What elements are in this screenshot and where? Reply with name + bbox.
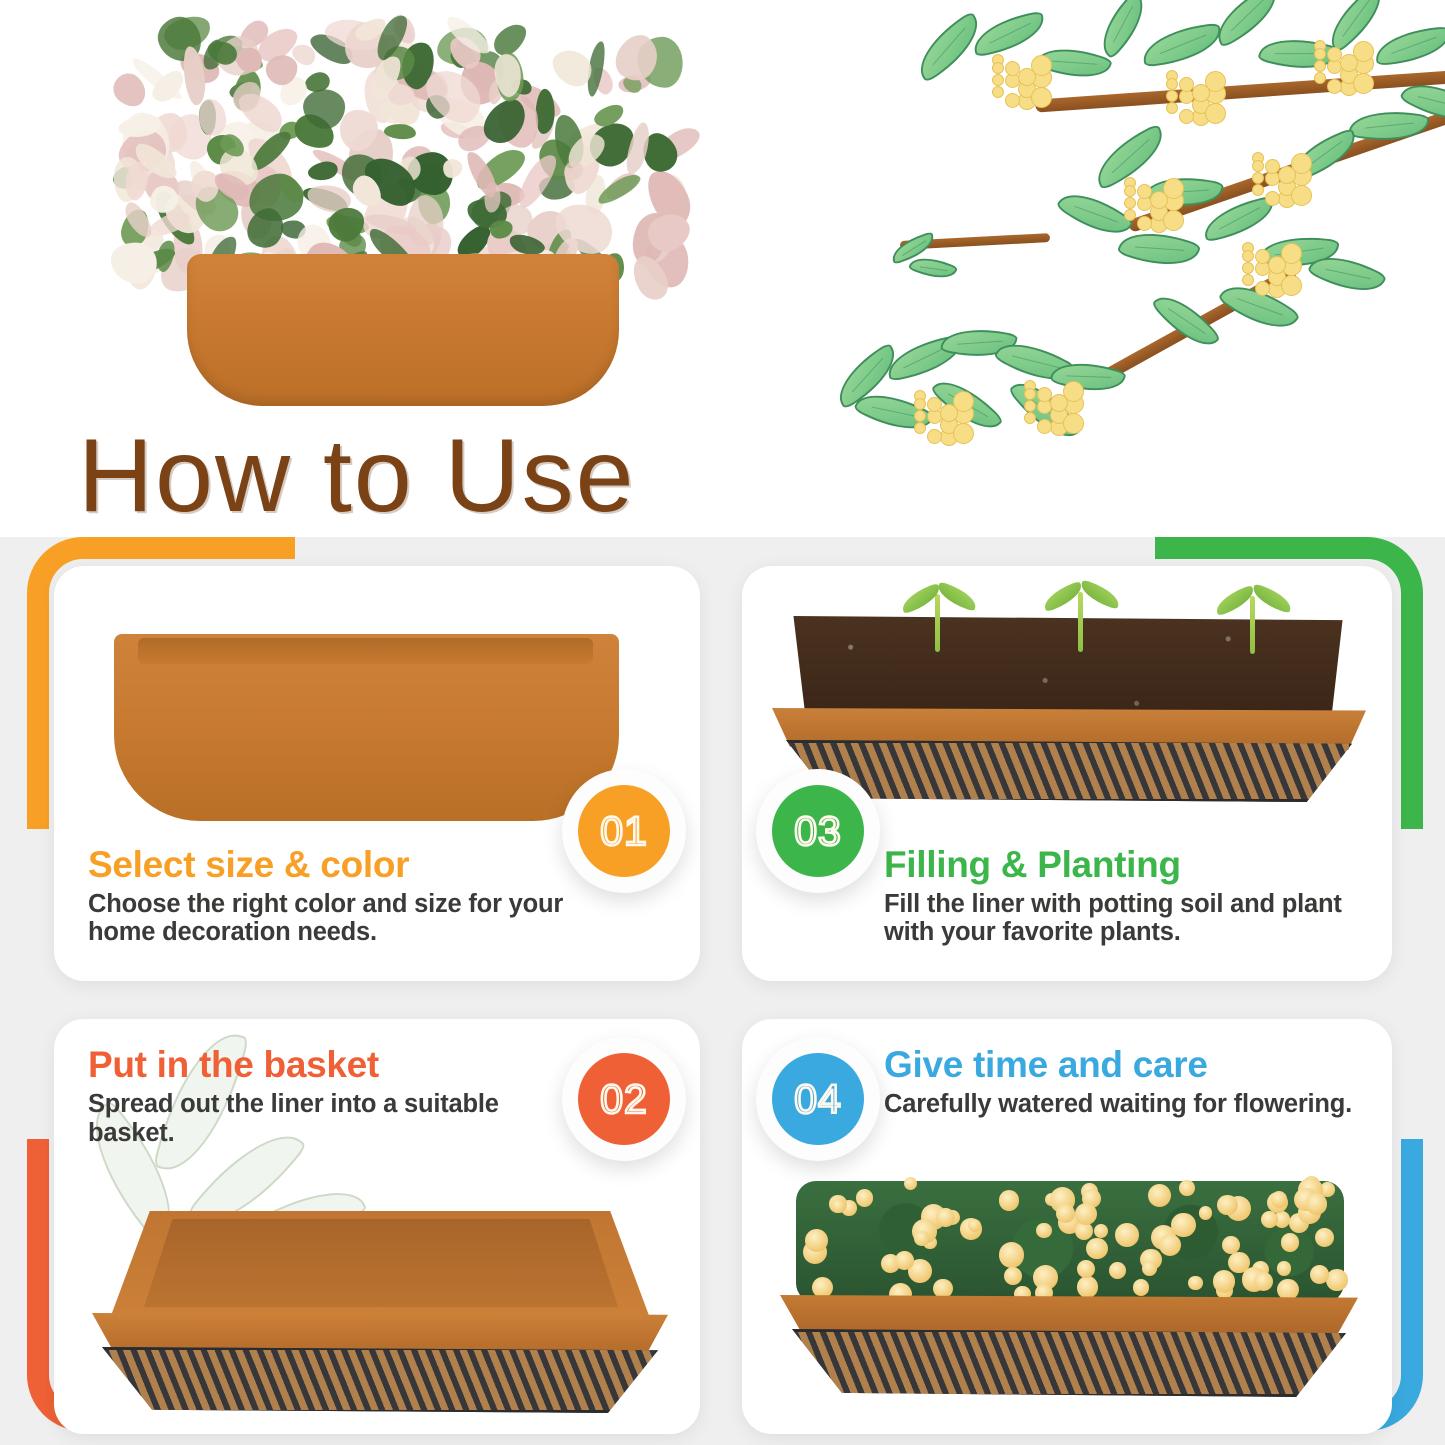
step-03-badge[interactable]: 03 <box>756 769 880 893</box>
flower-petal <box>1353 73 1374 94</box>
step-04-body: Carefully watered waiting for flowering. <box>884 1090 1358 1119</box>
rose-bloom <box>933 1279 953 1299</box>
rose-bloom <box>1094 1224 1108 1238</box>
rose-bloom <box>1004 1267 1022 1285</box>
rose-bloom <box>1217 1195 1238 1216</box>
rose-bloom <box>1261 1211 1278 1228</box>
liner-in-metal-basket-photo: Felt liner spread inside a black metal w… <box>68 1205 688 1427</box>
step-04-text: Give time and care Carefully watered wai… <box>884 1045 1358 1119</box>
flower-petal <box>914 398 926 410</box>
step-04-number: 04 <box>772 1053 864 1145</box>
hero-section: Terracotta felt window box planter fille… <box>0 0 1445 537</box>
flower-petal <box>1192 84 1210 102</box>
step-04-badge[interactable]: 04 <box>756 1037 880 1161</box>
flower-petal <box>1166 102 1178 114</box>
infographic-page: Terracotta felt window box planter fille… <box>0 0 1445 1445</box>
rose-bloom <box>895 1251 914 1270</box>
flower-petal <box>1124 209 1136 221</box>
step-03-heading: Filling & Planting <box>884 845 1358 884</box>
flower-petal <box>1124 185 1136 197</box>
flower-petal <box>1037 419 1052 434</box>
empty-felt-liner-photo: Empty terracotta felt planter liner <box>114 616 619 821</box>
flower-petal <box>1018 68 1036 86</box>
step-04-heading: Give time and care <box>884 1045 1358 1084</box>
seedling-leaf-1b <box>934 581 979 611</box>
illustrated-leaf <box>969 11 1048 58</box>
rose-bloom <box>999 1242 1025 1268</box>
illustrated-leaf <box>1374 26 1445 66</box>
flower-petal <box>1124 197 1136 209</box>
step-card-04[interactable]: Give time and care Carefully watered wai… <box>742 1019 1392 1434</box>
seedling-leaf-3b <box>1249 583 1294 613</box>
flower-petal <box>1166 78 1178 90</box>
rose-bloom <box>1271 1191 1288 1208</box>
rose-bloom <box>1133 1279 1150 1296</box>
flower-petal <box>1242 274 1254 286</box>
step-card-01[interactable]: Empty terracotta felt planter liner Sele… <box>54 566 700 981</box>
rose-bloom <box>1254 1272 1273 1291</box>
rose-bloom <box>999 1190 1019 1210</box>
step-01-heading: Select size & color <box>88 845 572 884</box>
rose-bloom <box>1213 1270 1236 1293</box>
flower-petal <box>1063 413 1084 434</box>
seedling-stem-1 <box>935 594 940 652</box>
flower-petal <box>1163 210 1184 231</box>
rose-bloom <box>1222 1236 1240 1254</box>
seedling-stem-3 <box>1250 596 1255 654</box>
rose-bloom <box>1159 1234 1181 1256</box>
rose-bloom <box>914 1231 929 1246</box>
flower-petal <box>953 423 974 444</box>
foliage-leaf <box>110 242 157 285</box>
metal-basket-cage <box>102 1347 658 1413</box>
flower-petal <box>1005 93 1020 108</box>
flower-petal <box>1050 394 1068 412</box>
step-02-number: 02 <box>578 1053 670 1145</box>
rose-bloom <box>1326 1269 1347 1290</box>
flower-petal <box>1327 79 1342 94</box>
liner-rim <box>138 638 593 664</box>
flower-petal <box>1150 191 1168 209</box>
osmanthus-flower-cluster <box>1238 240 1308 302</box>
step-03-number: 03 <box>772 785 864 877</box>
flower-petal <box>914 410 926 422</box>
step-01-badge[interactable]: 01 <box>562 769 686 893</box>
osmanthus-flower-cluster <box>910 388 980 450</box>
rose-bloom <box>904 1177 917 1190</box>
flower-petal <box>914 422 926 434</box>
flower-petal <box>927 429 942 444</box>
flower-petal <box>992 74 1004 86</box>
flower-petal <box>1314 48 1326 60</box>
soil-and-seedlings-photo: Window box filled with potting soil and … <box>760 580 1378 812</box>
page-title: How to Use <box>78 424 636 528</box>
rose-bloom <box>1179 1180 1195 1196</box>
planter-body <box>187 254 619 406</box>
flower-petal <box>1242 262 1254 274</box>
step-card-03[interactable]: Window box filled with potting soil and … <box>742 566 1392 981</box>
flower-petal <box>940 404 958 422</box>
flower-petal <box>1024 412 1036 424</box>
illustrated-leaf <box>1140 23 1224 68</box>
rose-bloom <box>1315 1228 1334 1247</box>
rose-bloom <box>1310 1265 1329 1284</box>
osmanthus-flower-cluster <box>1162 68 1232 130</box>
flower-petal <box>1291 185 1312 206</box>
seedling-leaf-2b <box>1077 579 1122 609</box>
rose-bloom <box>1199 1206 1212 1219</box>
rose-bloom <box>831 1199 846 1214</box>
osmanthus-flower-cluster <box>988 52 1058 114</box>
flower-petal <box>1252 184 1264 196</box>
flower-petal <box>1024 388 1036 400</box>
rose-bloom <box>1277 1261 1292 1276</box>
flower-petal <box>1340 54 1358 72</box>
rose-bloom <box>1077 1276 1098 1297</box>
flower-petal <box>1252 160 1264 172</box>
hero-foliage <box>113 18 688 278</box>
flower-petal <box>1252 172 1264 184</box>
flower-petal <box>1281 275 1302 296</box>
rose-bloom <box>1277 1279 1298 1300</box>
flower-petal <box>1031 87 1052 108</box>
flower-petal <box>1255 281 1270 296</box>
flower-petal <box>1166 90 1178 102</box>
osmanthus-flower-cluster <box>1310 38 1380 100</box>
potting-soil <box>782 616 1354 720</box>
metal-basket-cage <box>792 1329 1346 1397</box>
rose-bloom <box>1188 1276 1203 1291</box>
steps-grid-section: Empty terracotta felt planter liner Sele… <box>0 537 1445 1445</box>
step-02-badge[interactable]: 02 <box>562 1037 686 1161</box>
step-02-heading: Put in the basket <box>88 1045 572 1084</box>
flower-petal <box>1205 103 1226 124</box>
metal-basket-cage <box>786 740 1352 802</box>
flower-petal <box>1278 166 1296 184</box>
liner-cavity <box>144 1219 618 1307</box>
rose-bloom <box>1115 1223 1139 1247</box>
flower-petal <box>1242 250 1254 262</box>
rose-bloom <box>1056 1204 1075 1223</box>
step-card-02[interactable]: Put in the basket Spread out the liner i… <box>54 1019 700 1434</box>
flower-petal <box>1314 60 1326 72</box>
flower-petal <box>992 62 1004 74</box>
flower-petal <box>1179 109 1194 124</box>
step-03-text: Filling & Planting Fill the liner with p… <box>884 845 1358 947</box>
step-01-text: Select size & color Choose the right col… <box>88 845 572 947</box>
osmanthus-branch-image: Illustrated branch with green leaves and… <box>790 0 1445 440</box>
rose-bloom <box>805 1229 828 1252</box>
flower-petal <box>1314 72 1326 84</box>
step-01-number: 01 <box>578 785 670 877</box>
rose-bloom <box>936 1208 955 1227</box>
flower-petal <box>1024 400 1036 412</box>
flower-petal <box>1268 256 1286 274</box>
flower-petal <box>1137 216 1152 231</box>
step-02-text: Put in the basket Spread out the liner i… <box>88 1045 572 1147</box>
osmanthus-flower-cluster <box>1020 378 1090 440</box>
step-01-body: Choose the right color and size for your… <box>88 890 572 947</box>
rose-bloom <box>1281 1233 1300 1252</box>
seedling-stem-2 <box>1078 592 1083 652</box>
flower-petal <box>1265 191 1280 206</box>
rose-bloom <box>1036 1223 1052 1239</box>
osmanthus-flower-cluster <box>1120 175 1190 237</box>
step-02-body: Spread out the liner into a suitable bas… <box>88 1090 572 1147</box>
step-03-body: Fill the liner with potting soil and pla… <box>884 890 1358 947</box>
branch-main <box>1035 70 1445 112</box>
flower-petal <box>992 86 1004 98</box>
blooming-roses-planter-photo: Window box full of blooming yellow roses <box>758 1175 1380 1427</box>
osmanthus-flower-cluster <box>1248 150 1318 212</box>
hero-planter-image: Terracotta felt window box planter fille… <box>95 8 705 418</box>
